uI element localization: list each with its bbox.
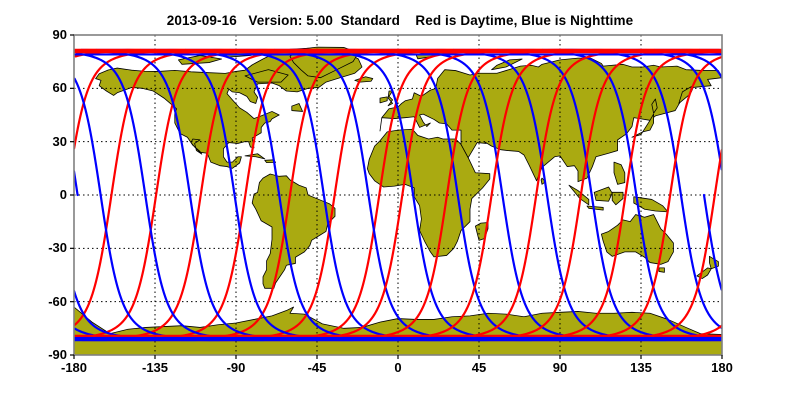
x-axis-tick-label: 135 (611, 360, 671, 375)
y-axis-tick-label: 60 (53, 80, 67, 95)
y-axis-tick-label: 90 (53, 27, 67, 42)
x-axis-tick-label: 90 (530, 360, 590, 375)
landmass-tasmania (659, 268, 664, 272)
ground-track-plot (0, 0, 800, 400)
y-axis-tick-label: -60 (48, 294, 67, 309)
y-axis-tick-label: 30 (53, 134, 67, 149)
x-axis-tick-label: 180 (692, 360, 752, 375)
x-axis-tick-label: -45 (287, 360, 347, 375)
ground-track-figure: 2013-09-16 Version: 5.00 Standard Red is… (0, 0, 800, 400)
x-axis-tick-label: 45 (449, 360, 509, 375)
y-axis-tick-label: -30 (48, 240, 67, 255)
x-axis-tick-label: 0 (368, 360, 428, 375)
x-axis-tick-label: -90 (206, 360, 266, 375)
x-axis-tick-label: -180 (44, 360, 104, 375)
y-axis-tick-label: 0 (60, 187, 67, 202)
x-axis-tick-label: -135 (125, 360, 185, 375)
